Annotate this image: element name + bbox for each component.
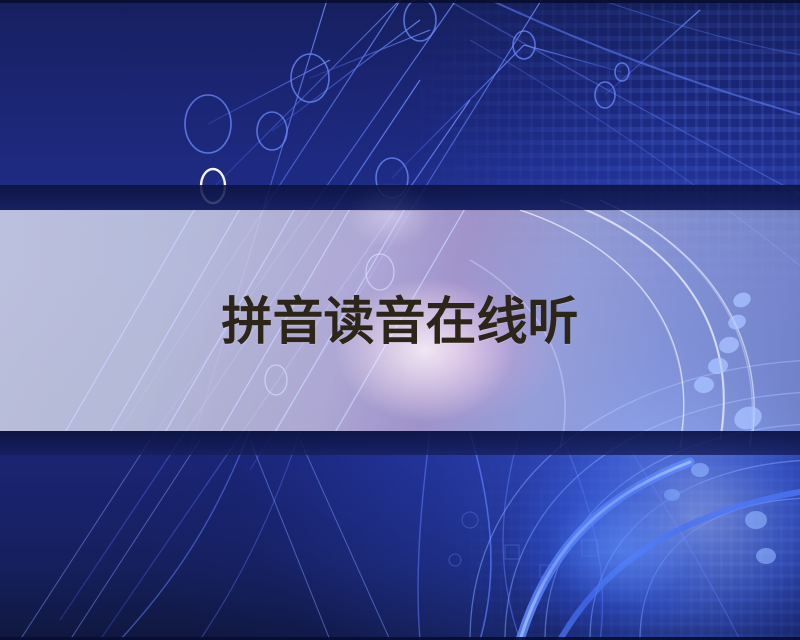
banner-image: 拼音读音在线听 xyxy=(0,0,800,640)
title-banner: 拼音读音在线听 xyxy=(0,210,800,431)
page-title: 拼音读音在线听 xyxy=(0,294,800,352)
frame-edge-top xyxy=(0,0,800,3)
